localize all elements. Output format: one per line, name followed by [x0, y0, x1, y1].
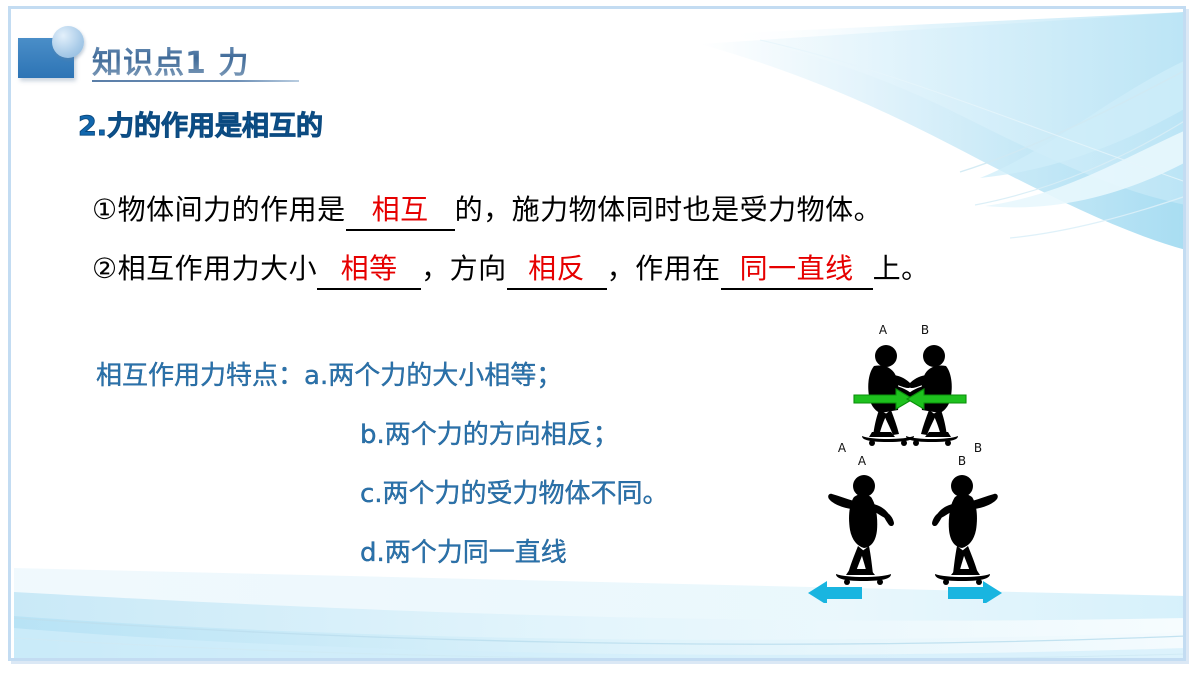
line1-answer-blank-1[interactable]: 相互: [346, 188, 455, 231]
badge-circle-icon: [52, 26, 84, 58]
feature-item-b: b.两个力的方向相反；: [360, 414, 619, 451]
feature-list-line-a: 相互作用力特点：a.两个力的大小相等；: [96, 355, 562, 392]
section-subtitle: 2.力的作用是相互的: [78, 104, 323, 143]
feature-item-a: a.两个力的大小相等；: [304, 361, 562, 391]
motion-arrow-b-right-icon: [948, 581, 1002, 603]
line1-number: ①: [92, 193, 118, 226]
feature-item-c: c.两个力的受力物体不同。: [360, 473, 669, 510]
line2-answer-blank-1[interactable]: 相等: [317, 247, 421, 290]
fill-in-line-1: ①物体间力的作用是相互的，施力物体同时也是受力物体。: [92, 188, 882, 231]
skater-figure-b-pushing: [908, 345, 952, 437]
page-title: 知识点1 力: [92, 38, 249, 82]
line2-segment-2: ，方向: [421, 252, 507, 285]
slide-canvas: 知识点1 力 2.力的作用是相互的 ①物体间力的作用是相互的，施力物体同时也是受…: [0, 0, 1200, 675]
feature-item-d: d.两个力同一直线: [360, 532, 567, 569]
skateboard-b: [906, 436, 958, 446]
illustration-two-skaters-apart: A B: [800, 448, 1020, 603]
line2-segment-1: 相互作用力大小: [118, 252, 318, 285]
illustration-two-skaters-pushing: A B: [800, 318, 1020, 453]
motion-arrow-a-left-icon: [808, 581, 862, 603]
skater-figure-a-pushing: [868, 345, 912, 437]
illus-top-label-b-top: B: [921, 323, 929, 337]
skateboard-a-standing: [836, 574, 891, 585]
line2-answer-blank-3[interactable]: 同一直线: [721, 247, 873, 290]
skateboard-a: [862, 436, 914, 446]
line1-segment-1: 物体间力的作用是: [118, 193, 346, 226]
line2-number: ②: [92, 252, 118, 285]
skater-figure-a-standing: [828, 475, 894, 575]
illus-top-label-a-top: A: [879, 323, 888, 337]
title-underline-rule: [92, 80, 299, 82]
illus-bottom-label-b: B: [958, 454, 966, 468]
skater-figure-b-standing: [932, 475, 998, 575]
line2-segment-4: 上。: [873, 252, 930, 285]
fill-in-line-2: ②相互作用力大小相等，方向相反，作用在同一直线上。: [92, 247, 930, 290]
illus-bottom-label-a: A: [858, 454, 867, 468]
background-wave-decoration: [0, 0, 1200, 675]
skateboard-b-standing: [935, 574, 990, 585]
line2-segment-3: ，作用在: [607, 252, 721, 285]
line2-answer-blank-2[interactable]: 相反: [507, 247, 607, 290]
feature-list-label: 相互作用力特点：: [96, 361, 304, 391]
line1-segment-2: 的，施力物体同时也是受力物体。: [455, 193, 883, 226]
